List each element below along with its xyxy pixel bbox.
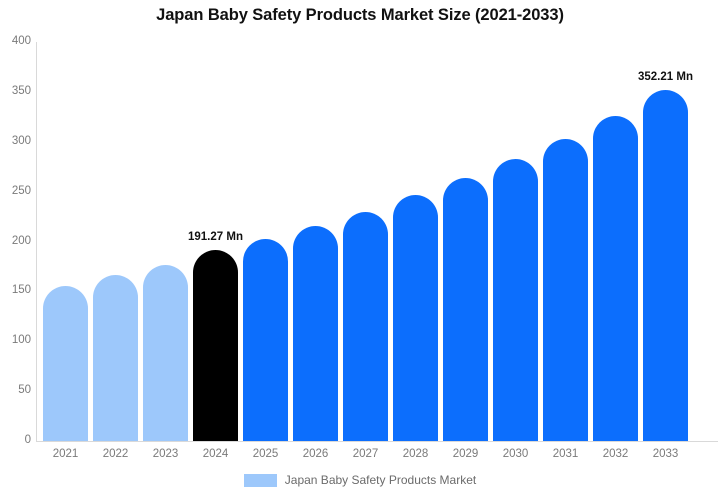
bar-value-label-2033: 352.21 Mn — [621, 71, 711, 83]
legend-label-japan-baby-safety-products-market: Japan Baby Safety Products Market — [285, 473, 476, 487]
bar-2028[interactable] — [393, 195, 438, 441]
bar-2023[interactable] — [143, 265, 188, 441]
bar-2022[interactable] — [93, 275, 138, 441]
chart-legend: Japan Baby Safety Products Market — [0, 473, 720, 487]
x-axis-tick-2030: 2030 — [493, 448, 538, 460]
bar-2030[interactable] — [493, 159, 538, 441]
bar-2033[interactable] — [643, 90, 688, 441]
bar-2025[interactable] — [243, 239, 288, 441]
x-axis-tick-2022: 2022 — [93, 448, 138, 460]
x-axis-tick-2033: 2033 — [643, 448, 688, 460]
x-axis-tick-2026: 2026 — [293, 448, 338, 460]
x-axis-tick-2025: 2025 — [243, 448, 288, 460]
bar-2024[interactable] — [193, 250, 238, 441]
bar-value-label-2024: 191.27 Mn — [171, 231, 261, 243]
chart-container: Japan Baby Safety Products Market Size (… — [0, 0, 720, 500]
x-axis-tick-2021: 2021 — [43, 448, 88, 460]
bar-2026[interactable] — [293, 226, 338, 441]
x-axis-tick-2023: 2023 — [143, 448, 188, 460]
bar-2027[interactable] — [343, 212, 388, 441]
bars-layer: 2021202220232024191.27 Mn202520262027202… — [0, 0, 720, 500]
x-axis-tick-2031: 2031 — [543, 448, 588, 460]
bar-2031[interactable] — [543, 139, 588, 441]
x-axis-tick-2032: 2032 — [593, 448, 638, 460]
x-axis-tick-2024: 2024 — [193, 448, 238, 460]
x-axis-tick-2027: 2027 — [343, 448, 388, 460]
legend-swatch-japan-baby-safety-products-market — [244, 474, 277, 487]
bar-2032[interactable] — [593, 116, 638, 441]
bar-2021[interactable] — [43, 286, 88, 441]
x-axis-tick-2029: 2029 — [443, 448, 488, 460]
bar-2029[interactable] — [443, 178, 488, 441]
x-axis-tick-2028: 2028 — [393, 448, 438, 460]
